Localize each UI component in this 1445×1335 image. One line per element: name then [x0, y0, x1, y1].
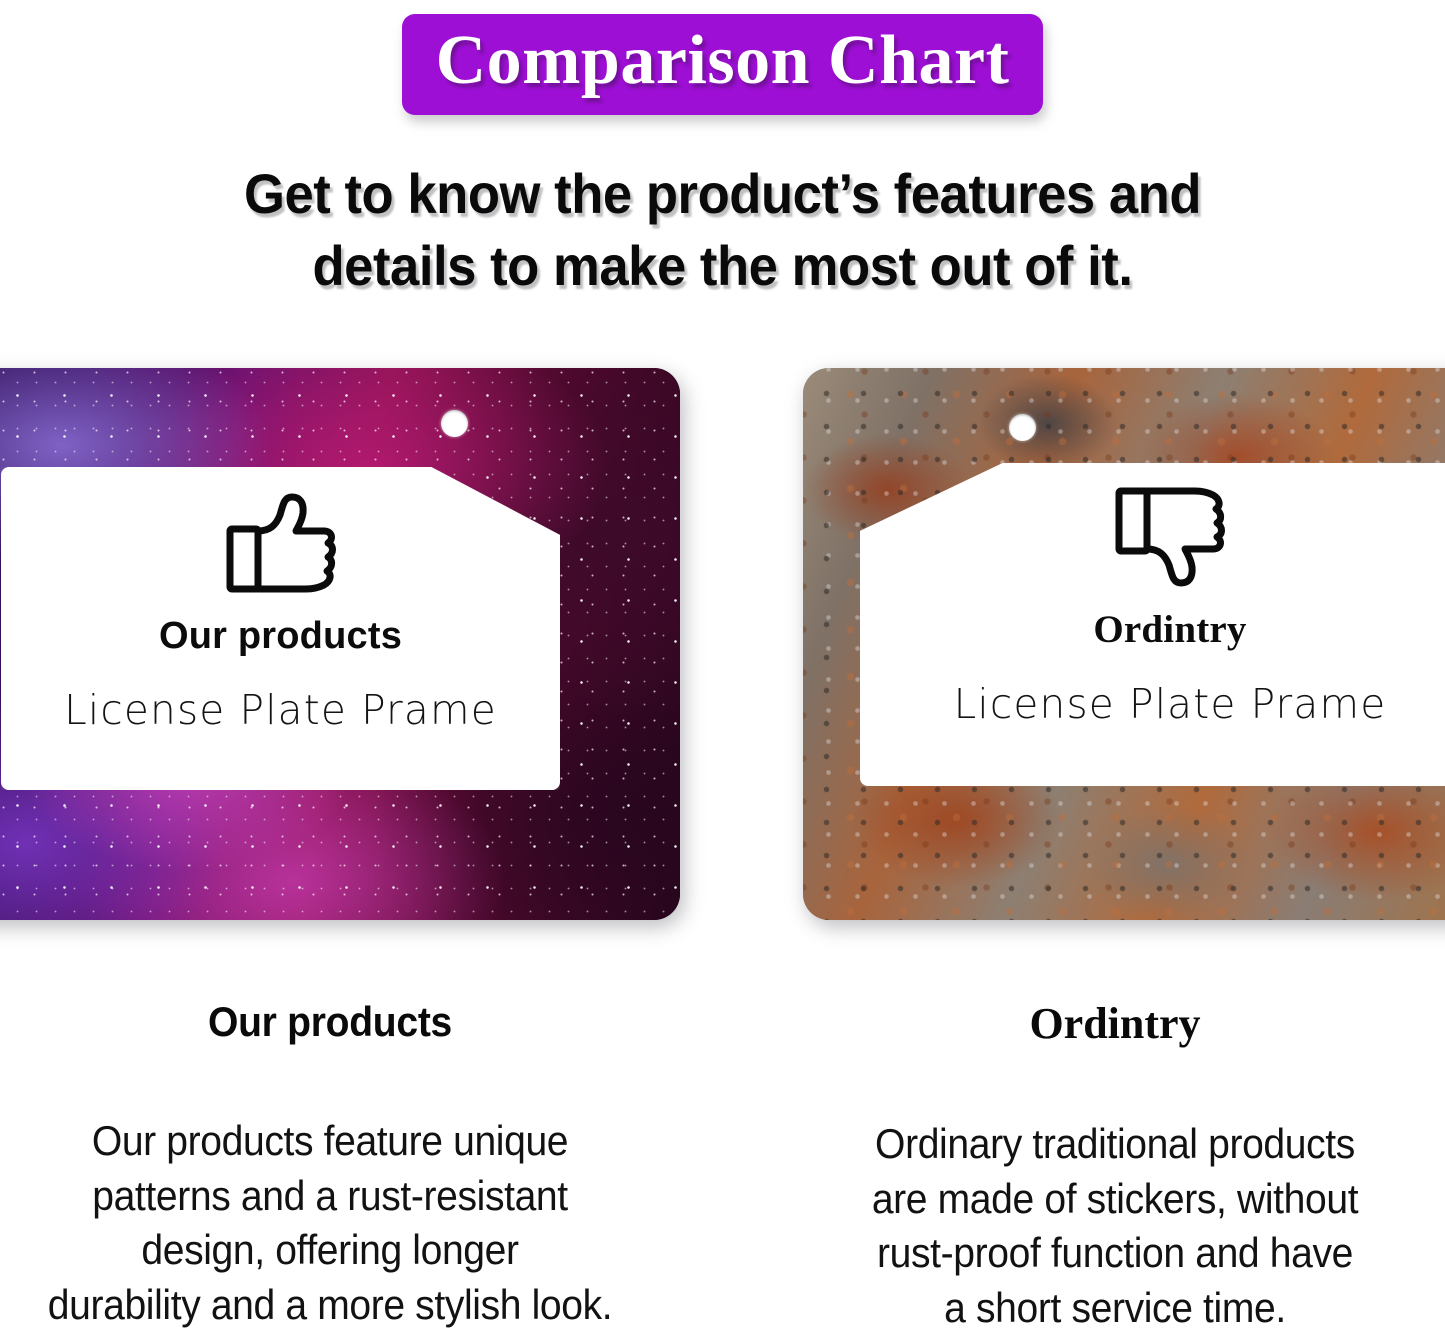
plate-window-ours: Our products License Plate Prame — [1, 467, 560, 790]
column-body-line: design, offering longer — [23, 1223, 637, 1278]
plate-subtitle-ordinary: License Plate Prame — [863, 680, 1445, 728]
screw-hole-icon — [1009, 414, 1036, 441]
subtitle-line-2: details to make the most out of it. — [43, 230, 1401, 302]
column-body-line: are made of stickers, without — [808, 1172, 1422, 1227]
title-banner: Comparison Chart — [402, 14, 1044, 115]
subtitle: Get to know the product’s features and d… — [43, 158, 1401, 301]
column-body-ours: Our products feature unique patterns and… — [23, 1114, 637, 1332]
column-body-line: Ordinary traditional products — [808, 1117, 1422, 1172]
product-frame-ours: Our products License Plate Prame — [0, 368, 680, 920]
column-body-line: patterns and a rust-resistant — [23, 1169, 637, 1224]
column-body-line: rust-proof function and have — [808, 1226, 1422, 1281]
column-body-line: Our products feature unique — [23, 1114, 637, 1169]
column-body-ordinary: Ordinary traditional products are made o… — [808, 1117, 1422, 1335]
column-heading-ordinary: Ordintry — [785, 998, 1445, 1049]
column-heading-ours: Our products — [23, 998, 637, 1046]
plate-title-ordinary: Ordintry — [860, 607, 1445, 652]
screw-hole-icon — [441, 410, 468, 437]
page-title: Comparison Chart — [436, 20, 1010, 101]
column-ours: Our products Our products feature unique… — [0, 998, 660, 1332]
column-ordinary: Ordintry Ordinary traditional products a… — [785, 998, 1445, 1335]
product-frame-ordinary: Ordintry License Plate Prame — [803, 368, 1445, 920]
thumbs-up-icon — [222, 489, 340, 599]
title-banner-wrapper: Comparison Chart — [0, 14, 1445, 115]
subtitle-line-1: Get to know the product’s features and — [43, 158, 1401, 230]
column-body-line: durability and a more stylish look. — [23, 1278, 637, 1333]
plate-title-ours: Our products — [1, 615, 560, 658]
thumbs-down-icon — [1111, 481, 1229, 591]
plate-subtitle-ours: License Plate Prame — [4, 686, 557, 734]
column-body-line: a short service time. — [808, 1281, 1422, 1335]
plate-window-ordinary: Ordintry License Plate Prame — [860, 463, 1445, 786]
